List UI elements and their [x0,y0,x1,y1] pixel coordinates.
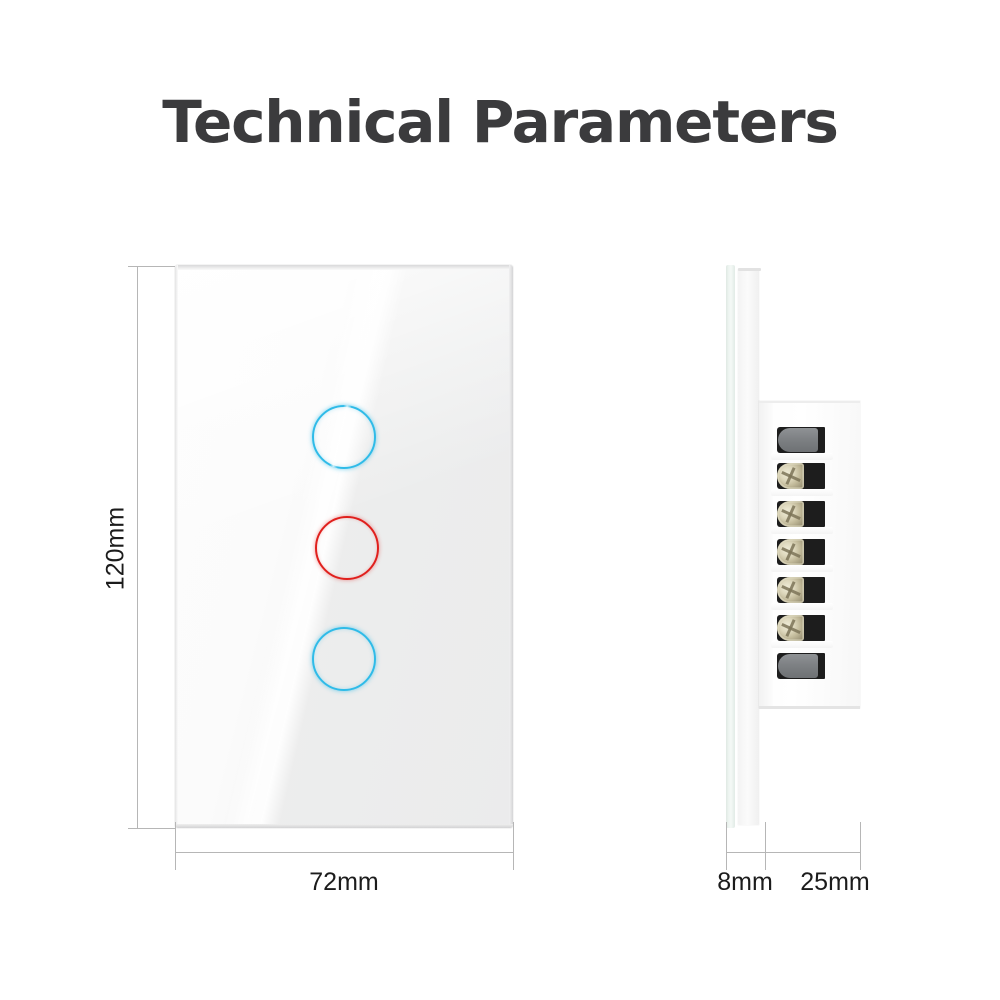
height-extension-line-top [128,266,175,267]
panel-bottom-bevel [175,824,513,828]
glass-thickness-label: 8mm [706,868,784,897]
side-profile [726,265,866,828]
terminal-plug [778,654,818,678]
rear-body-bottom-edge [759,706,860,709]
terminal-rib [771,453,833,460]
height-dimension-line [137,266,138,828]
glass-thickness-extension-left [726,822,727,870]
touch-button-3-indicator[interactable] [312,627,376,691]
panel-right-bevel [509,265,513,828]
screw-rim [777,539,804,565]
terminal-slot-blank-bottom [771,651,831,681]
terminal-rib [771,489,833,496]
screw-rim [777,463,804,489]
width-extension-line-left [175,822,176,870]
height-extension-line-bottom [128,828,175,829]
panel-top-bevel [175,265,513,270]
terminal-screw-4 [771,575,831,605]
body-depth-label: 25mm [780,868,890,897]
width-dimension-line [175,852,513,853]
terminal-rib [771,603,833,610]
terminal-slot-blank-top [771,425,831,455]
side-frame-top-cap [738,268,761,271]
technical-parameters-page: Technical Parameters 120mm 72mm [0,0,1000,1000]
side-dimension-line [726,852,860,853]
screw-rim [777,577,804,603]
width-extension-line-right [513,822,514,870]
glass-thickness-extension-right [765,822,766,870]
width-dimension-label: 72mm [175,868,513,897]
body-depth-extension-right [860,822,861,870]
terminal-screw-2 [771,499,831,529]
page-title: Technical Parameters [0,88,1000,156]
terminal-block [771,425,837,687]
terminal-rib [771,565,833,572]
panel-left-bevel [175,265,178,828]
touch-button-2-indicator[interactable] [315,516,379,580]
terminal-screw-5 [771,613,831,643]
height-dimension-label: 120mm [102,489,131,609]
terminal-rib [771,641,833,648]
side-frame [738,269,759,825]
glass-edge-strip [726,265,735,828]
terminal-screw-1 [771,461,831,491]
terminal-rib [771,527,833,534]
screw-rim [777,501,804,527]
touch-button-1-indicator[interactable] [312,405,376,469]
terminal-screw-3 [771,537,831,567]
screw-rim [777,615,804,641]
terminal-plug [778,428,818,452]
rear-body-top-edge [759,401,860,403]
glass-panel [175,265,513,828]
